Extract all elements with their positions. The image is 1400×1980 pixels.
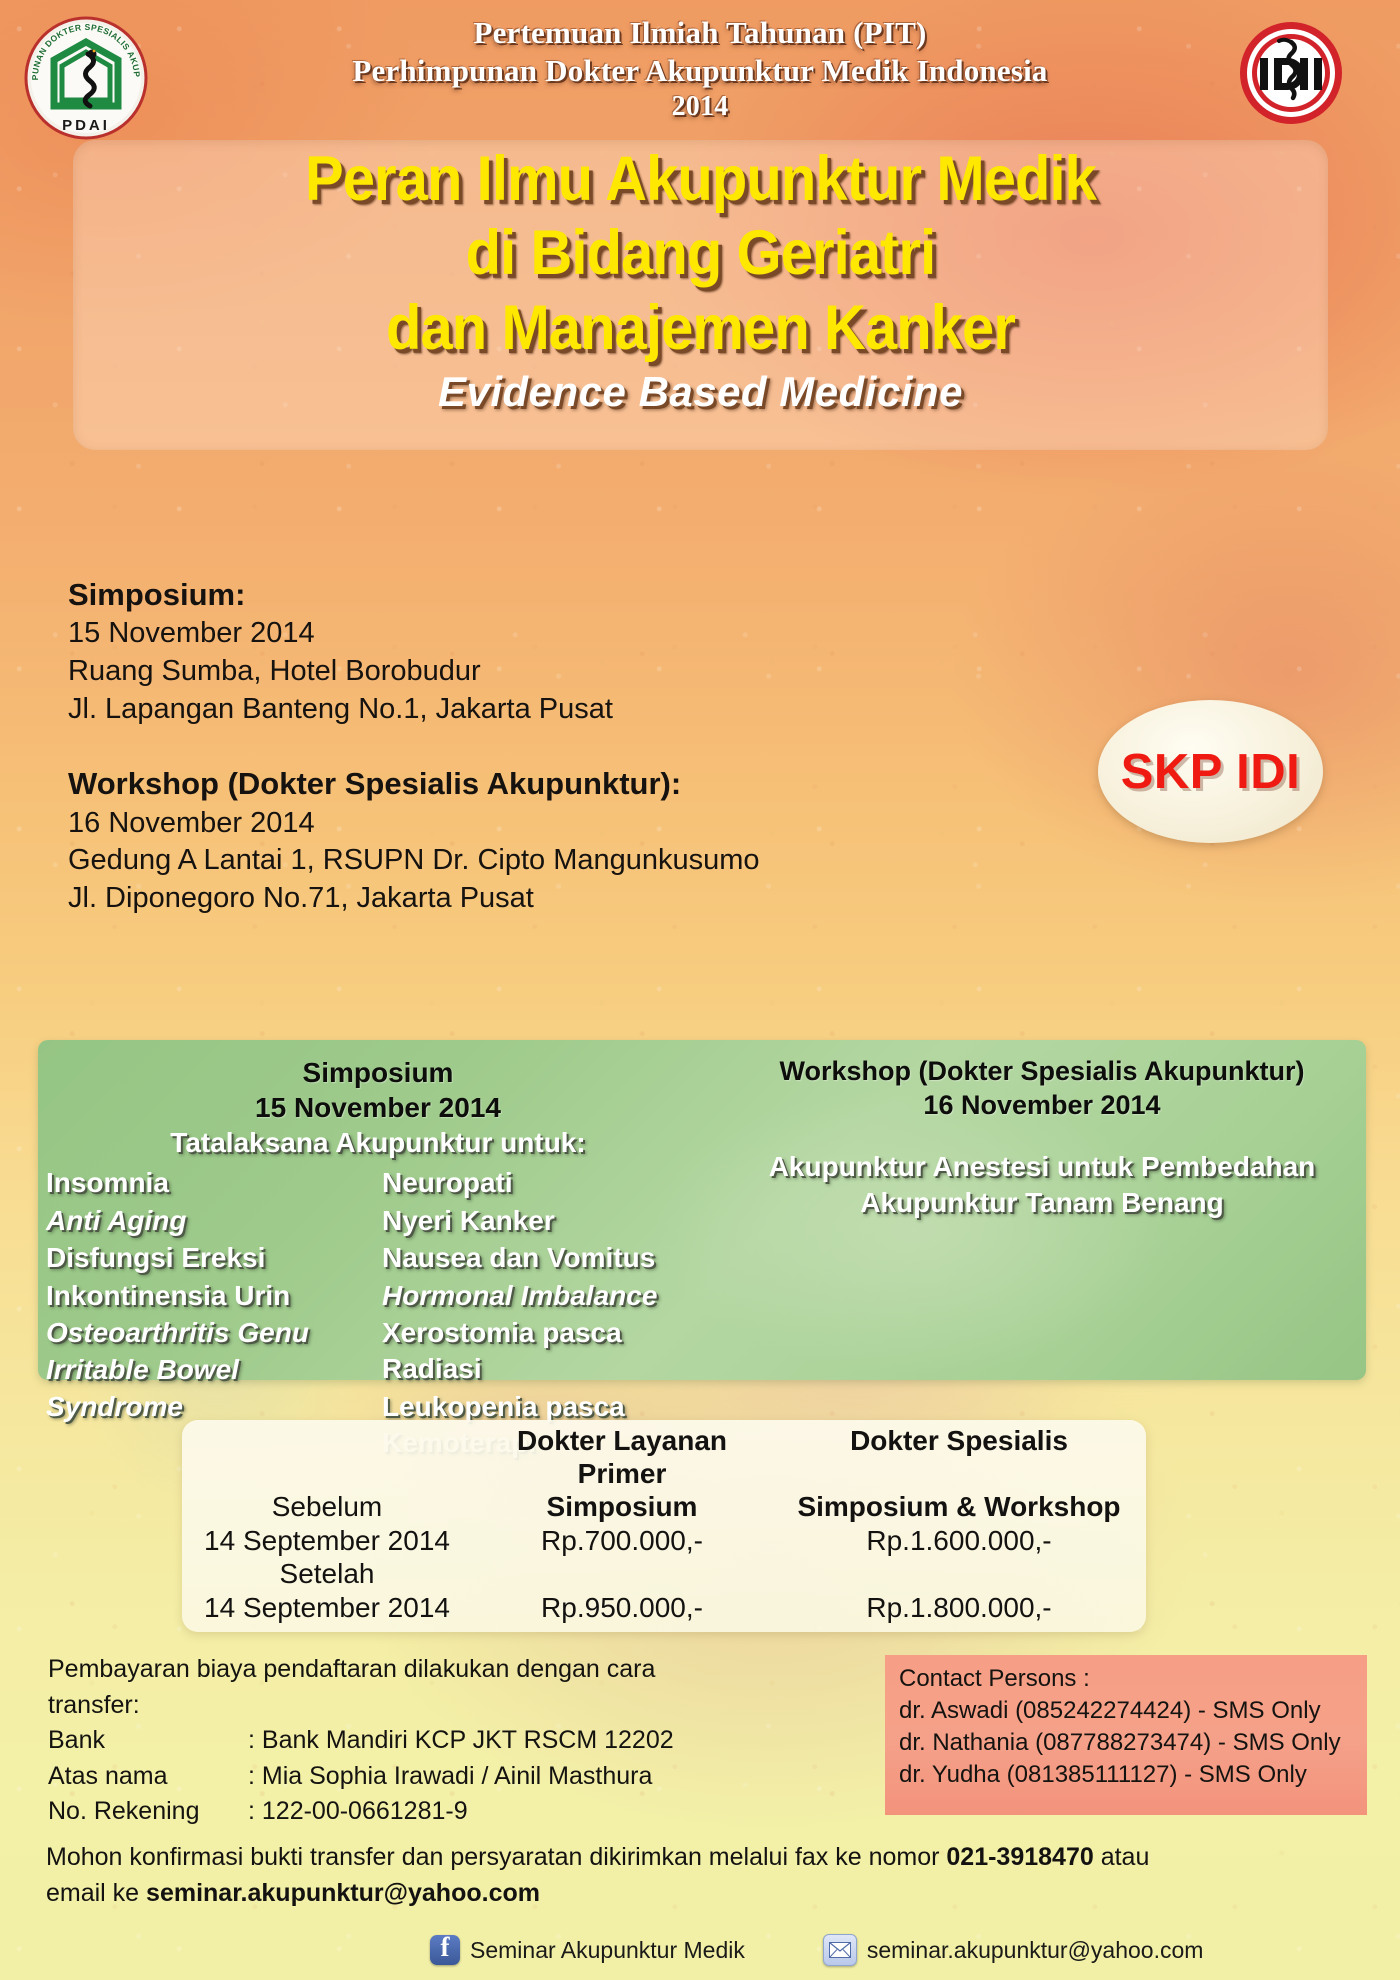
table-row: Dokter Layanan Primer Dokter Spesialis <box>182 1424 1146 1490</box>
facebook-icon[interactable] <box>430 1935 460 1965</box>
organization-heading: Pertemuan Ilmiah Tahunan (PIT) Perhimpun… <box>180 14 1220 124</box>
price-row1-label-1: Sebelum <box>182 1490 472 1524</box>
topic-item: Hormonal Imbalance <box>382 1278 718 1314</box>
topics-symposium-date: 15 November 2014 <box>38 1090 718 1125</box>
fax-number: 021-3918470 <box>946 1843 1093 1871</box>
symposium-address: Jl. Lapangan Banteng No.1, Jakarta Pusat <box>68 691 968 729</box>
header-line-1: Pertemuan Ilmiah Tahunan (PIT) <box>180 14 1220 52</box>
payment-name-row: Atas nama : Mia Sophia Irawadi / Ainil M… <box>48 1759 748 1795</box>
workshop-venue: Gedung A Lantai 1, RSUPN Dr. Cipto Mangu… <box>68 842 968 880</box>
payment-name-key: Atas nama <box>48 1759 248 1795</box>
price-row2-specialist: Rp.1.800.000,- <box>772 1591 1146 1625</box>
price-cell-empty <box>772 1557 1146 1591</box>
poster-root: PERHIMPUNAN DOKTER SPESIALIS AKUPUNKTUR … <box>0 0 1400 1980</box>
topics-list-columns: Insomnia Anti Aging Disfungsi Ereksi Ink… <box>38 1165 718 1462</box>
topic-item: Anti Aging <box>46 1203 382 1239</box>
confirmation-text-1: Mohon konfirmasi bukti transfer dan pers… <box>46 1843 946 1871</box>
price-row2-label-1: Setelah <box>182 1557 472 1591</box>
topics-workshop-title: Workshop (Dokter Spesialis Akupunktur) <box>718 1055 1366 1089</box>
confirmation-note: Mohon konfirmasi bukti transfer dan pers… <box>46 1840 1366 1911</box>
topic-item: Inkontinensia Urin <box>46 1278 382 1314</box>
workshop-date: 16 November 2014 <box>68 805 968 843</box>
topics-workshop-items: Akupunktur Anestesi untuk Pembedahan Aku… <box>718 1149 1366 1222</box>
topic-item: Nausea dan Vomitus <box>382 1240 718 1276</box>
payment-name-value: : Mia Sophia Irawadi / Ainil Masthura <box>248 1759 748 1795</box>
price-row1-primary: Rp.700.000,- <box>472 1524 772 1558</box>
workshop-item: Akupunktur Anestesi untuk Pembedahan <box>718 1149 1366 1185</box>
workshop-address: Jl. Diponegoro No.71, Jakarta Pusat <box>68 880 968 918</box>
contact-item: dr. Nathania (087788273474) - SMS Only <box>899 1727 1355 1759</box>
payment-bank-value: : Bank Mandiri KCP JKT RSCM 12202 <box>248 1723 748 1759</box>
price-row2-label-2: 14 September 2014 <box>182 1591 472 1625</box>
symposium-venue: Ruang Sumba, Hotel Borobudur <box>68 653 968 691</box>
email-label[interactable]: seminar.akupunktur@yahoo.com <box>867 1937 1204 1964</box>
payment-account-key: No. Rekening <box>48 1794 248 1830</box>
price-header-primary-2: Simposium <box>472 1490 772 1524</box>
price-header-specialist-1: Dokter Spesialis <box>772 1424 1146 1490</box>
workshop-label: Workshop (Dokter Spesialis Akupunktur): <box>68 764 968 804</box>
table-row: 14 September 2014 Rp.700.000,- Rp.1.600.… <box>182 1524 1146 1558</box>
workshop-item: Akupunktur Tanam Benang <box>718 1185 1366 1221</box>
payment-bank-key: Bank <box>48 1723 248 1759</box>
contact-item: dr. Aswadi (085242274424) - SMS Only <box>899 1695 1355 1727</box>
symposium-date: 15 November 2014 <box>68 615 968 653</box>
price-cell-empty <box>472 1557 772 1591</box>
title-line-2: di Bidang Geriatri <box>123 222 1278 284</box>
topics-list-right: Neuropati Nyeri Kanker Nausea dan Vomitu… <box>382 1165 718 1462</box>
payment-bank-row: Bank : Bank Mandiri KCP JKT RSCM 12202 <box>48 1723 748 1759</box>
topic-item: Insomnia <box>46 1165 382 1201</box>
social-links-row: Seminar Akupunktur Medik seminar.akupunk… <box>430 1928 1370 1972</box>
topics-workshop-date: 16 November 2014 <box>718 1089 1366 1123</box>
header-line-2: Perhimpunan Dokter Akupunktur Medik Indo… <box>180 52 1220 90</box>
title-line-3: dan Manajemen Kanker <box>123 297 1278 359</box>
table-row: 14 September 2014 Rp.950.000,- Rp.1.800.… <box>182 1591 1146 1625</box>
confirmation-line-2: email ke seminar.akupunktur@yahoo.com <box>46 1876 1366 1912</box>
facebook-page-label[interactable]: Seminar Akupunktur Medik <box>470 1937 745 1964</box>
topic-item: Xerostomia pasca Radiasi <box>382 1315 718 1388</box>
svg-text:PDAI: PDAI <box>62 117 110 134</box>
contact-persons-box: Contact Persons : dr. Aswadi (0852422744… <box>885 1655 1367 1815</box>
payment-lead: Pembayaran biaya pendaftaran dilakukan d… <box>48 1652 748 1723</box>
topic-item: Neuropati <box>382 1165 718 1201</box>
title-subtitle: Evidence Based Medicine <box>73 371 1328 413</box>
skp-idi-label: SKP IDI <box>1121 744 1301 800</box>
payment-account-value: : 122-00-0661281-9 <box>248 1794 748 1830</box>
contact-item: dr. Yudha (081385111127) - SMS Only <box>899 1759 1355 1791</box>
topics-symposium-column: Simposium 15 November 2014 Tatalaksana A… <box>38 1055 718 1463</box>
payment-details: Pembayaran biaya pendaftaran dilakukan d… <box>48 1652 748 1830</box>
price-header-specialist-2: Simposium & Workshop <box>772 1490 1146 1524</box>
contacts-title: Contact Persons : <box>899 1663 1355 1695</box>
idi-logo <box>1238 20 1344 126</box>
contact-email: seminar.akupunktur@yahoo.com <box>146 1879 540 1907</box>
skp-idi-badge: SKP IDI <box>1098 700 1323 843</box>
topics-symposium-subtitle: Tatalaksana Akupunktur untuk: <box>38 1125 718 1161</box>
price-row1-specialist: Rp.1.600.000,- <box>772 1524 1146 1558</box>
topics-list-left: Insomnia Anti Aging Disfungsi Ereksi Ink… <box>46 1165 382 1462</box>
pdai-logo: PERHIMPUNAN DOKTER SPESIALIS AKUPUNKTUR … <box>22 14 150 142</box>
topics-symposium-title: Simposium <box>38 1055 718 1090</box>
header-year: 2014 <box>180 90 1220 124</box>
topics-workshop-column: Workshop (Dokter Spesialis Akupunktur) 1… <box>718 1055 1366 1221</box>
price-cell-empty <box>182 1424 472 1490</box>
event-details: Simposium: 15 November 2014 Ruang Sumba,… <box>68 575 968 918</box>
table-row: Sebelum Simposium Simposium & Workshop <box>182 1490 1146 1524</box>
payment-account-row: No. Rekening : 122-00-0661281-9 <box>48 1794 748 1830</box>
symposium-label: Simposium: <box>68 575 968 615</box>
envelope-icon[interactable] <box>823 1934 857 1966</box>
topic-item: Disfungsi Ereksi <box>46 1240 382 1276</box>
confirmation-text-2: atau <box>1094 1843 1150 1871</box>
spacer <box>68 728 968 764</box>
confirmation-line-1: Mohon konfirmasi bukti transfer dan pers… <box>46 1840 1366 1876</box>
table-row: Setelah <box>182 1557 1146 1591</box>
topic-item: Nyeri Kanker <box>382 1203 718 1239</box>
price-row2-primary: Rp.950.000,- <box>472 1591 772 1625</box>
confirmation-text-3: email ke <box>46 1879 146 1907</box>
poster-title: Peran Ilmu Akupunktur Medik di Bidang Ge… <box>73 148 1328 413</box>
price-table: Dokter Layanan Primer Dokter Spesialis S… <box>182 1424 1146 1624</box>
title-line-1: Peran Ilmu Akupunktur Medik <box>123 148 1278 210</box>
topic-item: Irritable Bowel Syndrome <box>46 1352 382 1425</box>
price-row1-label-2: 14 September 2014 <box>182 1524 472 1558</box>
topic-item: Osteoarthritis Genu <box>46 1315 382 1351</box>
price-header-primary-1: Dokter Layanan Primer <box>472 1424 772 1490</box>
